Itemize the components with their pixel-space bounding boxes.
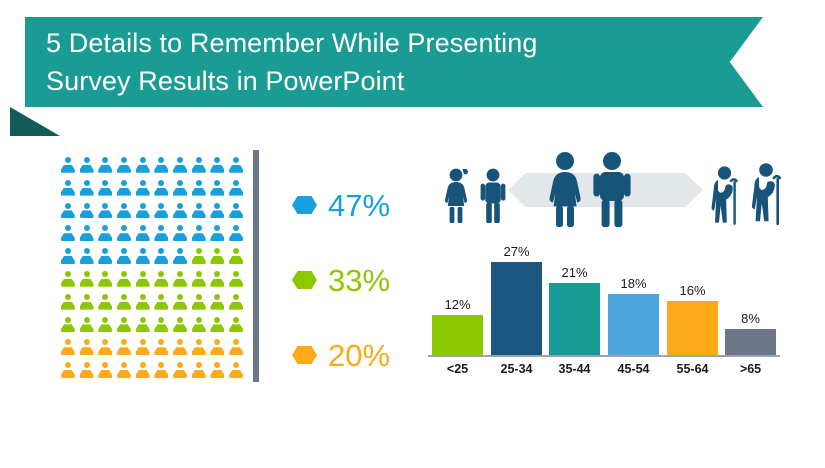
person-icon bbox=[79, 339, 95, 356]
person-icon bbox=[60, 203, 76, 220]
bar-value-label: 16% bbox=[679, 283, 705, 298]
person-icon bbox=[60, 271, 76, 288]
person-icon bbox=[60, 294, 76, 311]
person-icon bbox=[153, 225, 169, 242]
bar-value-label: 18% bbox=[620, 276, 646, 291]
bar-value-label: 21% bbox=[561, 265, 587, 280]
person-icon bbox=[97, 317, 113, 334]
person-icon bbox=[228, 225, 244, 242]
person-icon bbox=[79, 294, 95, 311]
bar-column: 18% bbox=[608, 276, 659, 357]
person-icon bbox=[210, 362, 226, 379]
person-icon bbox=[153, 362, 169, 379]
person-icon bbox=[210, 203, 226, 220]
person-icon bbox=[116, 180, 132, 197]
person-icon bbox=[60, 180, 76, 197]
person-icon bbox=[116, 248, 132, 265]
chart-baseline-axis bbox=[428, 355, 780, 357]
person-icon bbox=[135, 203, 151, 220]
category-label: <25 bbox=[432, 362, 483, 376]
person-icon bbox=[153, 203, 169, 220]
person-icon bbox=[135, 157, 151, 174]
hexagon-marker-icon bbox=[292, 271, 317, 289]
person-icon bbox=[191, 271, 207, 288]
person-icon bbox=[191, 339, 207, 356]
person-icon bbox=[153, 294, 169, 311]
person-icon bbox=[210, 157, 226, 174]
person-icon bbox=[191, 180, 207, 197]
person-icon bbox=[210, 248, 226, 265]
bar-value-label: 27% bbox=[503, 244, 529, 259]
girl-icon bbox=[441, 166, 471, 224]
page-title: 5 Details to Remember While Presenting S… bbox=[46, 24, 706, 100]
age-group-figures bbox=[425, 148, 815, 228]
person-icon bbox=[79, 180, 95, 197]
person-icon bbox=[79, 225, 95, 242]
bar-column: 21% bbox=[549, 265, 600, 357]
bar-column: 27% bbox=[491, 244, 542, 357]
bar-column: 16% bbox=[667, 283, 718, 357]
person-icon bbox=[210, 271, 226, 288]
person-icon bbox=[97, 203, 113, 220]
ribbon-fold-shadow bbox=[10, 107, 60, 136]
slide-canvas: 5 Details to Remember While Presenting S… bbox=[0, 0, 825, 468]
person-icon bbox=[135, 362, 151, 379]
person-icon bbox=[60, 225, 76, 242]
person-icon bbox=[60, 317, 76, 334]
bar bbox=[608, 294, 659, 357]
person-icon bbox=[97, 225, 113, 242]
hexagon-marker-icon bbox=[292, 346, 317, 364]
pictogram-grid bbox=[60, 157, 244, 379]
person-icon bbox=[228, 339, 244, 356]
person-icon bbox=[210, 294, 226, 311]
person-icon bbox=[135, 317, 151, 334]
person-icon bbox=[60, 157, 76, 174]
category-label: 55-64 bbox=[667, 362, 718, 376]
category-label: >65 bbox=[725, 362, 776, 376]
person-icon bbox=[228, 157, 244, 174]
elderly-woman-cane-icon bbox=[707, 163, 745, 225]
person-icon bbox=[153, 157, 169, 174]
person-icon bbox=[210, 317, 226, 334]
elderly-man-cane-icon bbox=[747, 161, 787, 225]
person-icon bbox=[172, 203, 188, 220]
person-icon bbox=[153, 180, 169, 197]
person-icon bbox=[116, 271, 132, 288]
person-icon bbox=[79, 248, 95, 265]
person-icon bbox=[97, 271, 113, 288]
bar bbox=[491, 262, 542, 357]
person-icon bbox=[135, 294, 151, 311]
person-icon bbox=[228, 271, 244, 288]
person-icon bbox=[210, 339, 226, 356]
legend-value: 47% bbox=[328, 190, 390, 221]
person-icon bbox=[135, 248, 151, 265]
category-label: 35-44 bbox=[549, 362, 600, 376]
person-icon bbox=[116, 157, 132, 174]
person-icon bbox=[228, 317, 244, 334]
person-icon bbox=[79, 362, 95, 379]
person-icon bbox=[153, 248, 169, 265]
person-icon bbox=[172, 248, 188, 265]
legend-item: 47% bbox=[292, 176, 422, 234]
person-icon bbox=[191, 157, 207, 174]
person-icon bbox=[60, 248, 76, 265]
bar-column: 8% bbox=[725, 311, 776, 357]
person-icon bbox=[79, 317, 95, 334]
person-icon bbox=[228, 294, 244, 311]
person-icon bbox=[191, 294, 207, 311]
person-icon bbox=[191, 203, 207, 220]
person-icon bbox=[79, 203, 95, 220]
legend-value: 20% bbox=[328, 340, 390, 371]
person-icon bbox=[172, 271, 188, 288]
person-icon bbox=[228, 180, 244, 197]
person-icon bbox=[135, 180, 151, 197]
chart-category-labels: <2525-3435-4445-5455-64>65 bbox=[428, 362, 780, 386]
person-icon bbox=[228, 362, 244, 379]
hexagon-marker-icon bbox=[292, 196, 317, 214]
person-icon bbox=[97, 362, 113, 379]
person-icon bbox=[116, 225, 132, 242]
bar-value-label: 8% bbox=[741, 311, 760, 326]
person-icon bbox=[172, 362, 188, 379]
person-icon bbox=[116, 317, 132, 334]
person-icon bbox=[60, 339, 76, 356]
person-icon bbox=[97, 157, 113, 174]
person-icon bbox=[97, 339, 113, 356]
person-icon bbox=[172, 339, 188, 356]
person-icon bbox=[79, 157, 95, 174]
person-icon bbox=[135, 339, 151, 356]
person-icon bbox=[135, 271, 151, 288]
person-icon bbox=[210, 225, 226, 242]
person-icon bbox=[191, 317, 207, 334]
person-icon bbox=[79, 271, 95, 288]
bar bbox=[667, 301, 718, 357]
bar-value-label: 12% bbox=[444, 297, 470, 312]
category-label: 45-54 bbox=[608, 362, 659, 376]
vertical-divider bbox=[253, 150, 259, 382]
person-icon bbox=[228, 248, 244, 265]
legend-value: 33% bbox=[328, 265, 390, 296]
legend-item: 33% bbox=[292, 251, 422, 309]
legend-item: 20% bbox=[292, 326, 422, 384]
person-icon bbox=[172, 180, 188, 197]
bar bbox=[432, 315, 483, 357]
person-icon bbox=[97, 248, 113, 265]
person-icon bbox=[191, 248, 207, 265]
boy-icon bbox=[479, 166, 507, 224]
person-icon bbox=[116, 362, 132, 379]
person-icon bbox=[135, 225, 151, 242]
person-icon bbox=[60, 362, 76, 379]
person-icon bbox=[228, 203, 244, 220]
percentage-legend: 47%33%20% bbox=[292, 176, 422, 401]
age-distribution-bar-chart: 12%27%21%18%16%8% bbox=[428, 232, 783, 357]
person-icon bbox=[97, 294, 113, 311]
person-icon bbox=[153, 317, 169, 334]
person-icon bbox=[97, 180, 113, 197]
person-icon bbox=[210, 180, 226, 197]
man-icon bbox=[591, 151, 633, 227]
person-icon bbox=[153, 271, 169, 288]
person-icon bbox=[172, 157, 188, 174]
bar-column: 12% bbox=[432, 297, 483, 357]
person-icon bbox=[172, 317, 188, 334]
person-icon bbox=[116, 294, 132, 311]
person-icon bbox=[172, 294, 188, 311]
person-icon bbox=[191, 362, 207, 379]
person-icon bbox=[191, 225, 207, 242]
category-label: 25-34 bbox=[491, 362, 542, 376]
woman-icon bbox=[543, 151, 587, 227]
bar bbox=[725, 329, 776, 357]
person-icon bbox=[116, 339, 132, 356]
person-icon bbox=[153, 339, 169, 356]
person-icon bbox=[116, 203, 132, 220]
person-icon bbox=[172, 225, 188, 242]
bar bbox=[549, 283, 600, 357]
